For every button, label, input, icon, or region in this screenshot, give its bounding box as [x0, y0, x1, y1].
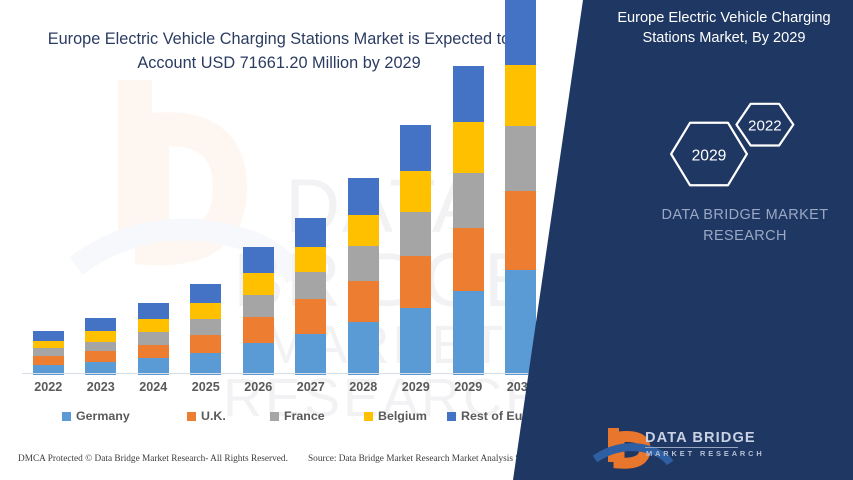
bar-segment-rest-of-europe: [243, 247, 274, 273]
bar-segment-germany: [505, 270, 536, 375]
legend-swatch-icon: [270, 412, 279, 421]
bar-segment-rest-of-europe: [348, 178, 379, 215]
bar-segment-belgium: [85, 331, 116, 342]
x-axis-label: 2029: [391, 380, 441, 394]
bar-segment-rest-of-europe: [138, 303, 169, 319]
bar-segment-belgium: [453, 122, 484, 173]
bar-segment-belgium: [400, 171, 431, 212]
panel-title: Europe Electric Vehicle Charging Station…: [600, 8, 848, 49]
x-axis-label: 2026: [233, 380, 283, 394]
stacked-bar-chart: [22, 100, 542, 375]
legend-label: France: [284, 409, 325, 423]
x-axis-label: 2024: [128, 380, 178, 394]
legend-swatch-icon: [62, 412, 71, 421]
source-note: Source: Data Bridge Market Research Mark…: [308, 454, 558, 464]
logo-wordmark: DATA BRIDGE: [645, 430, 756, 446]
bar-segment-belgium: [295, 247, 326, 272]
bar-segment-rest-of-europe: [190, 284, 221, 304]
bar-segment-u-k-: [348, 281, 379, 322]
bar-segment-belgium: [138, 319, 169, 332]
bar-2024-2: [138, 303, 169, 375]
infographic-canvas: DATA BRIDGE MARKET RESEARCH Europe Elect…: [0, 0, 853, 480]
bar-2025-3: [190, 284, 221, 375]
bar-segment-belgium: [348, 215, 379, 246]
bar-segment-belgium: [33, 341, 64, 349]
legend-item-germany[interactable]: Germany: [62, 409, 130, 423]
bar-segment-france: [348, 246, 379, 280]
bar-segment-rest-of-europe: [33, 331, 64, 341]
bar-segment-rest-of-europe: [505, 0, 536, 65]
legend-label: U.K.: [201, 409, 226, 423]
legend-item-belgium[interactable]: Belgium: [364, 409, 427, 423]
bar-segment-u-k-: [243, 317, 274, 343]
bar-segment-germany: [190, 353, 221, 375]
bar-segment-germany: [400, 308, 431, 375]
bar-segment-u-k-: [138, 345, 169, 359]
bar-segment-france: [453, 173, 484, 228]
bar-2027-5: [295, 218, 326, 375]
chart-x-axis-labels: 2022202320242025202620272028202920292030: [22, 380, 547, 400]
bar-segment-france: [400, 212, 431, 256]
chart-axis-line: [22, 373, 547, 374]
logo-sub-wordmark: MARKET RESEARCH: [646, 449, 765, 458]
logo-divider: [645, 447, 738, 448]
hexagon-group: 2022 2029: [655, 100, 835, 190]
bar-segment-rest-of-europe: [400, 125, 431, 171]
bar-segment-france: [85, 342, 116, 352]
bar-segment-germany: [453, 291, 484, 375]
bar-segment-u-k-: [453, 228, 484, 291]
bar-segment-france: [33, 348, 64, 356]
bar-segment-u-k-: [33, 356, 64, 365]
bar-2026-4: [243, 247, 274, 375]
bar-segment-u-k-: [85, 351, 116, 362]
brand-caption: DATA BRIDGE MARKET RESEARCH: [630, 205, 853, 247]
bar-segment-france: [243, 295, 274, 317]
x-axis-label: 2030: [496, 380, 546, 394]
legend-item-rest-of-europe[interactable]: Rest of Europe: [447, 409, 549, 423]
x-axis-label: 2028: [338, 380, 388, 394]
bar-segment-germany: [295, 334, 326, 375]
hexagon-large-label: 2029: [692, 148, 727, 165]
bar-segment-germany: [243, 343, 274, 375]
bar-segment-u-k-: [505, 191, 536, 270]
bar-segment-france: [295, 272, 326, 299]
bar-segment-u-k-: [295, 299, 326, 333]
x-axis-label: 2027: [286, 380, 336, 394]
x-axis-label: 2023: [76, 380, 126, 394]
bar-2029-7: [400, 125, 431, 375]
bar-segment-france: [505, 126, 536, 192]
bar-segment-rest-of-europe: [295, 218, 326, 247]
legend-label: Rest of Europe: [461, 409, 549, 423]
bar-segment-belgium: [243, 273, 274, 296]
chart-legend: GermanyU.K.FranceBelgiumRest of Europe: [22, 409, 547, 431]
x-axis-label: 2025: [181, 380, 231, 394]
bar-2023-1: [85, 318, 116, 375]
legend-label: Germany: [76, 409, 130, 423]
x-axis-label: 2022: [23, 380, 73, 394]
bar-segment-rest-of-europe: [453, 66, 484, 122]
bar-segment-rest-of-europe: [85, 318, 116, 331]
legend-label: Belgium: [378, 409, 427, 423]
bar-segment-u-k-: [400, 256, 431, 308]
bar-2029-8: [453, 66, 484, 375]
bar-segment-france: [190, 319, 221, 335]
bar-2022-0: [33, 331, 64, 375]
bar-2030-9: [505, 0, 536, 375]
bar-segment-france: [138, 332, 169, 345]
hexagon-small-label: 2022: [748, 117, 782, 134]
bar-segment-belgium: [190, 303, 221, 319]
x-axis-label: 2029: [443, 380, 493, 394]
legend-swatch-icon: [447, 412, 456, 421]
bar-2028-6: [348, 178, 379, 375]
dmca-notice: DMCA Protected © Data Bridge Market Rese…: [18, 454, 288, 464]
bar-segment-germany: [348, 322, 379, 375]
legend-swatch-icon: [364, 412, 373, 421]
legend-item-u-k-[interactable]: U.K.: [187, 409, 226, 423]
legend-item-france[interactable]: France: [270, 409, 325, 423]
legend-swatch-icon: [187, 412, 196, 421]
bar-segment-u-k-: [190, 335, 221, 354]
bar-segment-belgium: [505, 65, 536, 126]
